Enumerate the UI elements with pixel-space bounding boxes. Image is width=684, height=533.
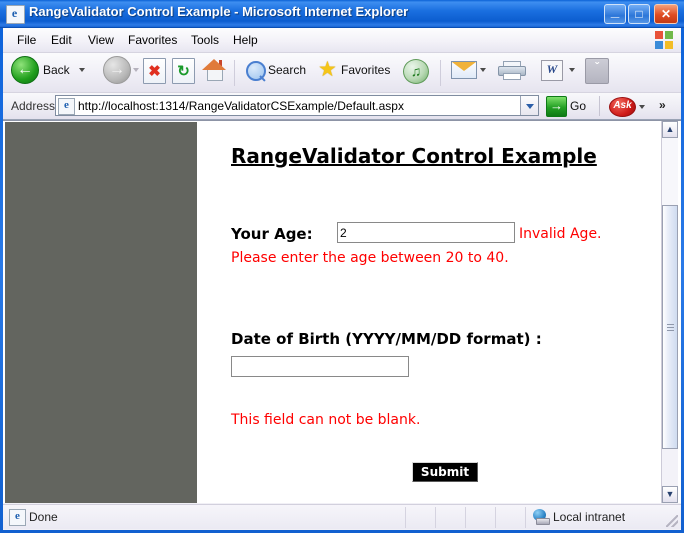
ask-label: Ask (610, 100, 635, 111)
resize-grip[interactable] (666, 515, 678, 527)
toolbar: ← Back → ✖ ↻ Search ★ Favorites (3, 53, 681, 93)
back-arrow-glyph: ← (12, 57, 38, 83)
address-label: Address (11, 99, 55, 113)
word-glyph: W (542, 62, 562, 77)
star-icon[interactable]: ★ (318, 60, 337, 79)
word-icon[interactable]: W (541, 60, 563, 81)
forward-arrow-icon: → (103, 56, 131, 84)
client-area: File Edit View Favorites Tools Help ← Ba… (3, 28, 681, 530)
toolbar-separator (440, 60, 441, 86)
status-bar: e Done Local intranet (3, 504, 681, 529)
address-dropdown-button[interactable] (520, 96, 538, 115)
status-separator (405, 507, 406, 528)
ask-toolbar-icon[interactable]: Ask (609, 97, 636, 117)
magnifier-icon[interactable] (246, 61, 266, 81)
printer-icon[interactable] (498, 61, 524, 78)
stop-glyph: ✖ (144, 62, 165, 80)
scroll-up-button[interactable]: ▲ (662, 121, 678, 138)
browser-window: e RangeValidator Control Example - Micro… (0, 0, 684, 533)
stop-icon[interactable]: ✖ (143, 58, 166, 84)
scroll-down-button[interactable]: ▼ (662, 486, 678, 503)
go-label[interactable]: Go (570, 99, 586, 113)
status-separator (525, 507, 526, 528)
close-icon: ✕ (655, 5, 677, 23)
menu-item-view[interactable]: View (84, 32, 118, 48)
mail-icon[interactable] (451, 61, 477, 79)
windows-flag-icon (654, 30, 675, 51)
refresh-glyph: ↻ (173, 62, 194, 80)
chevron-down-icon[interactable]: ˇ (585, 58, 609, 84)
window-icon: e (6, 5, 25, 24)
chevron-up-icon: ▲ (663, 122, 677, 137)
address-input[interactable]: e http://localhost:1314/RangeValidatorCS… (55, 95, 539, 116)
go-arrow-icon: → (547, 97, 566, 115)
security-zone-text: Local intranet (553, 510, 625, 524)
page-viewport: RangeValidator Control Example Your Age:… (3, 120, 681, 503)
status-separator (495, 507, 496, 528)
mail-dropdown-icon[interactable] (480, 68, 486, 72)
menu-item-favorites[interactable]: Favorites (124, 32, 181, 48)
toolbar-overflow-icon[interactable]: » (659, 98, 666, 112)
age-range-message: Please enter the age between 20 to 40. (231, 250, 509, 266)
go-button[interactable]: → (546, 96, 567, 117)
more-glyph: ˇ (586, 60, 608, 74)
age-label: Your Age: (231, 225, 313, 243)
page-title: RangeValidator Control Example (231, 144, 597, 168)
maximize-button[interactable]: □ (628, 4, 650, 24)
ask-dropdown-icon[interactable] (639, 105, 645, 109)
dob-label: Date of Birth (YYYY/MM/DD format) : (231, 330, 542, 348)
scrollbar-track[interactable] (662, 138, 678, 205)
page-content: RangeValidator Control Example Your Age:… (197, 122, 661, 503)
ie-document-icon: e (58, 98, 75, 115)
back-dropdown-icon[interactable] (79, 68, 85, 72)
chevron-down-icon: ▼ (663, 487, 677, 502)
chevron-down-icon (526, 104, 534, 109)
address-separator (599, 96, 600, 116)
vertical-scrollbar[interactable]: ▲ ▼ (661, 121, 678, 503)
menu-bar: File Edit View Favorites Tools Help (3, 28, 681, 53)
scrollbar-thumb[interactable] (662, 205, 678, 449)
address-bar: Address e http://localhost:1314/RangeVal… (3, 93, 681, 120)
toolbar-separator (234, 60, 235, 86)
favorites-button-label[interactable]: Favorites (341, 63, 390, 77)
forward-arrow-glyph: → (104, 57, 130, 83)
local-intranet-icon (533, 509, 549, 524)
media-icon[interactable]: ♫ (403, 59, 429, 84)
back-arrow-icon[interactable]: ← (11, 56, 39, 84)
status-text: Done (29, 510, 58, 524)
address-url-text: http://localhost:1314/RangeValidatorCSEx… (78, 99, 404, 113)
minimize-button[interactable]: _ (604, 4, 626, 24)
word-dropdown-icon[interactable] (569, 68, 575, 72)
scrollbar-grip-icon (667, 324, 674, 331)
maximize-icon: □ (629, 5, 649, 23)
back-button-label[interactable]: Back (43, 63, 70, 77)
search-button-label[interactable]: Search (268, 63, 306, 77)
forward-dropdown-icon (133, 68, 139, 72)
media-glyph: ♫ (407, 61, 425, 82)
page-left-pane (5, 122, 197, 503)
age-input[interactable] (337, 222, 515, 243)
ie-document-icon: e (9, 509, 26, 526)
window-title: RangeValidator Control Example - Microso… (29, 4, 408, 19)
menu-item-file[interactable]: File (13, 32, 40, 48)
menu-item-edit[interactable]: Edit (47, 32, 76, 48)
dob-input[interactable] (231, 356, 409, 377)
submit-button[interactable]: Submit (412, 462, 478, 482)
status-separator (435, 507, 436, 528)
close-button[interactable]: ✕ (654, 4, 678, 24)
menu-item-tools[interactable]: Tools (187, 32, 223, 48)
title-bar: e RangeValidator Control Example - Micro… (0, 0, 684, 28)
age-error-message: Invalid Age. (519, 226, 602, 242)
home-icon[interactable] (202, 59, 226, 81)
dob-error-message: This field can not be blank. (231, 412, 420, 428)
status-separator (465, 507, 466, 528)
refresh-icon[interactable]: ↻ (172, 58, 195, 84)
minimize-icon: _ (605, 5, 625, 23)
menu-item-help[interactable]: Help (229, 32, 262, 48)
